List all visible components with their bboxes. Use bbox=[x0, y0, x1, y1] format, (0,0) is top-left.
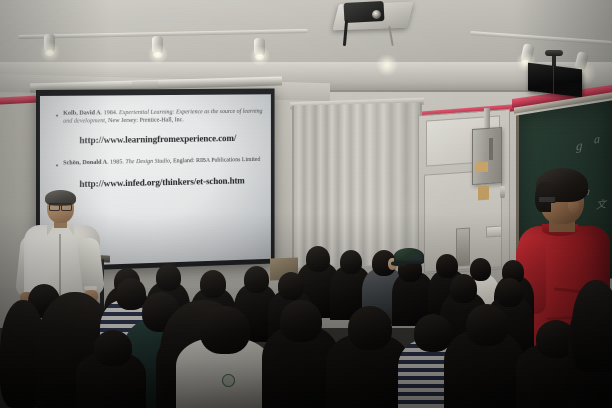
audience-head bbox=[348, 306, 392, 350]
audience-head bbox=[466, 304, 508, 346]
lecture-hall-photo: g a 中 文 ▪ Kolb, David A. 1984. Experient… bbox=[0, 0, 612, 408]
audience-head bbox=[116, 278, 146, 310]
audience-head bbox=[280, 300, 322, 342]
audience-head bbox=[94, 330, 132, 366]
audience-head bbox=[278, 272, 304, 300]
baseball-cap-icon bbox=[394, 248, 424, 264]
audience-head bbox=[200, 306, 250, 354]
audience-head bbox=[156, 264, 181, 291]
audience-head bbox=[306, 246, 330, 272]
audience-head bbox=[244, 266, 269, 293]
audience-head bbox=[450, 274, 477, 303]
audience-head bbox=[340, 250, 362, 274]
audience-hair bbox=[572, 280, 612, 372]
audience-head bbox=[414, 314, 452, 352]
shirt-logo bbox=[222, 374, 235, 387]
audience-head bbox=[436, 254, 458, 278]
audience-head bbox=[200, 270, 226, 298]
audience-head bbox=[496, 278, 523, 307]
audience bbox=[0, 0, 612, 408]
